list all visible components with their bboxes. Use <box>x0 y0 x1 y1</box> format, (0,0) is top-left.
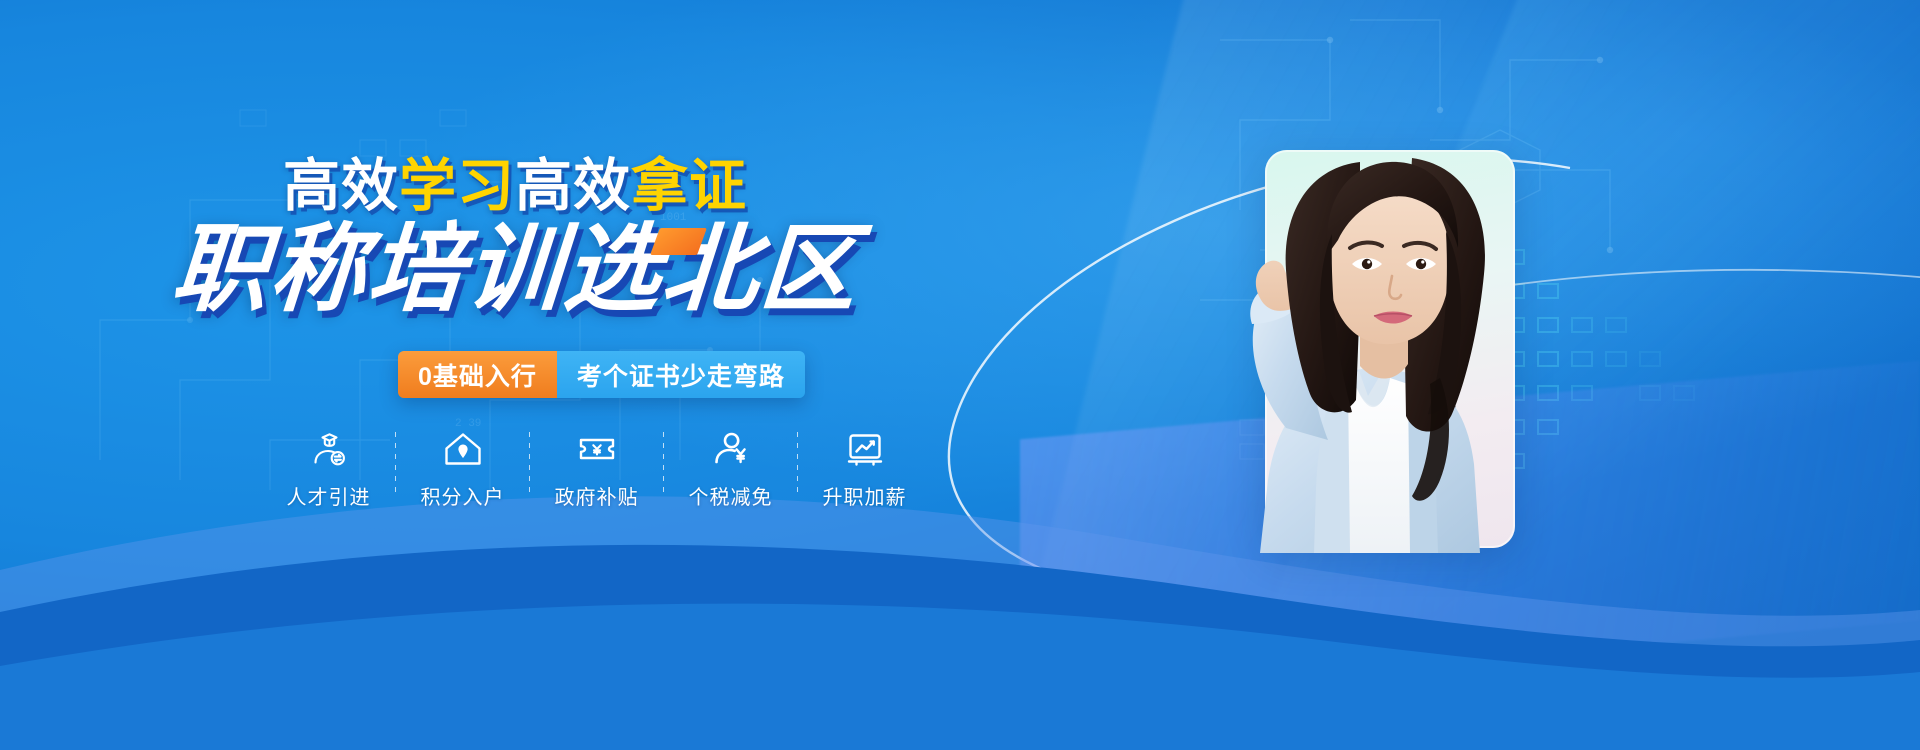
chart-board-icon <box>844 428 886 470</box>
headline-subline: 高效学习高效拿证 <box>0 158 1030 215</box>
headline-seg-1: 高效 <box>283 154 399 218</box>
badge-right-label: 考个证书少走弯路 <box>557 351 805 398</box>
feature-label: 个税减免 <box>689 481 773 510</box>
headline-seg-2: 学习 <box>399 154 515 218</box>
badge-left-label: 0基础入行 <box>398 351 557 398</box>
headline-seg-3: 高效 <box>515 154 631 218</box>
businesswoman-photo <box>1060 128 1600 553</box>
headline-main: 职称培训选北区 <box>0 222 1033 318</box>
feature-item-promotion[interactable]: 升职加薪 <box>798 428 931 510</box>
orange-accent-chip <box>650 228 707 255</box>
hero-figure <box>1060 128 1600 553</box>
ticket-yuan-icon <box>576 428 618 470</box>
feature-item-tax[interactable]: 个税减免 <box>664 428 797 510</box>
copy-block: 高效学习高效拿证 职称培训选北区 0基础入行 考个证书少走弯路 <box>0 0 1030 620</box>
feature-label: 人才引进 <box>287 481 371 510</box>
promo-banner: 2 39 01101 1001 <box>0 0 1920 750</box>
feature-item-subsidy[interactable]: 政府补贴 <box>530 428 663 510</box>
graduate-person-icon <box>308 428 350 470</box>
feature-label: 积分入户 <box>421 481 505 510</box>
feature-list: 人才引进 积分入户 <box>262 428 931 510</box>
headline-seg-4: 拿证 <box>631 154 747 218</box>
house-pin-icon <box>442 428 484 470</box>
feature-label: 政府补贴 <box>555 481 639 510</box>
feature-item-talent[interactable]: 人才引进 <box>262 428 395 510</box>
value-prop-badge: 0基础入行 考个证书少走弯路 <box>398 351 805 398</box>
feature-label: 升职加薪 <box>823 481 907 510</box>
person-yuan-icon <box>710 428 752 470</box>
feature-item-residency[interactable]: 积分入户 <box>396 428 529 510</box>
